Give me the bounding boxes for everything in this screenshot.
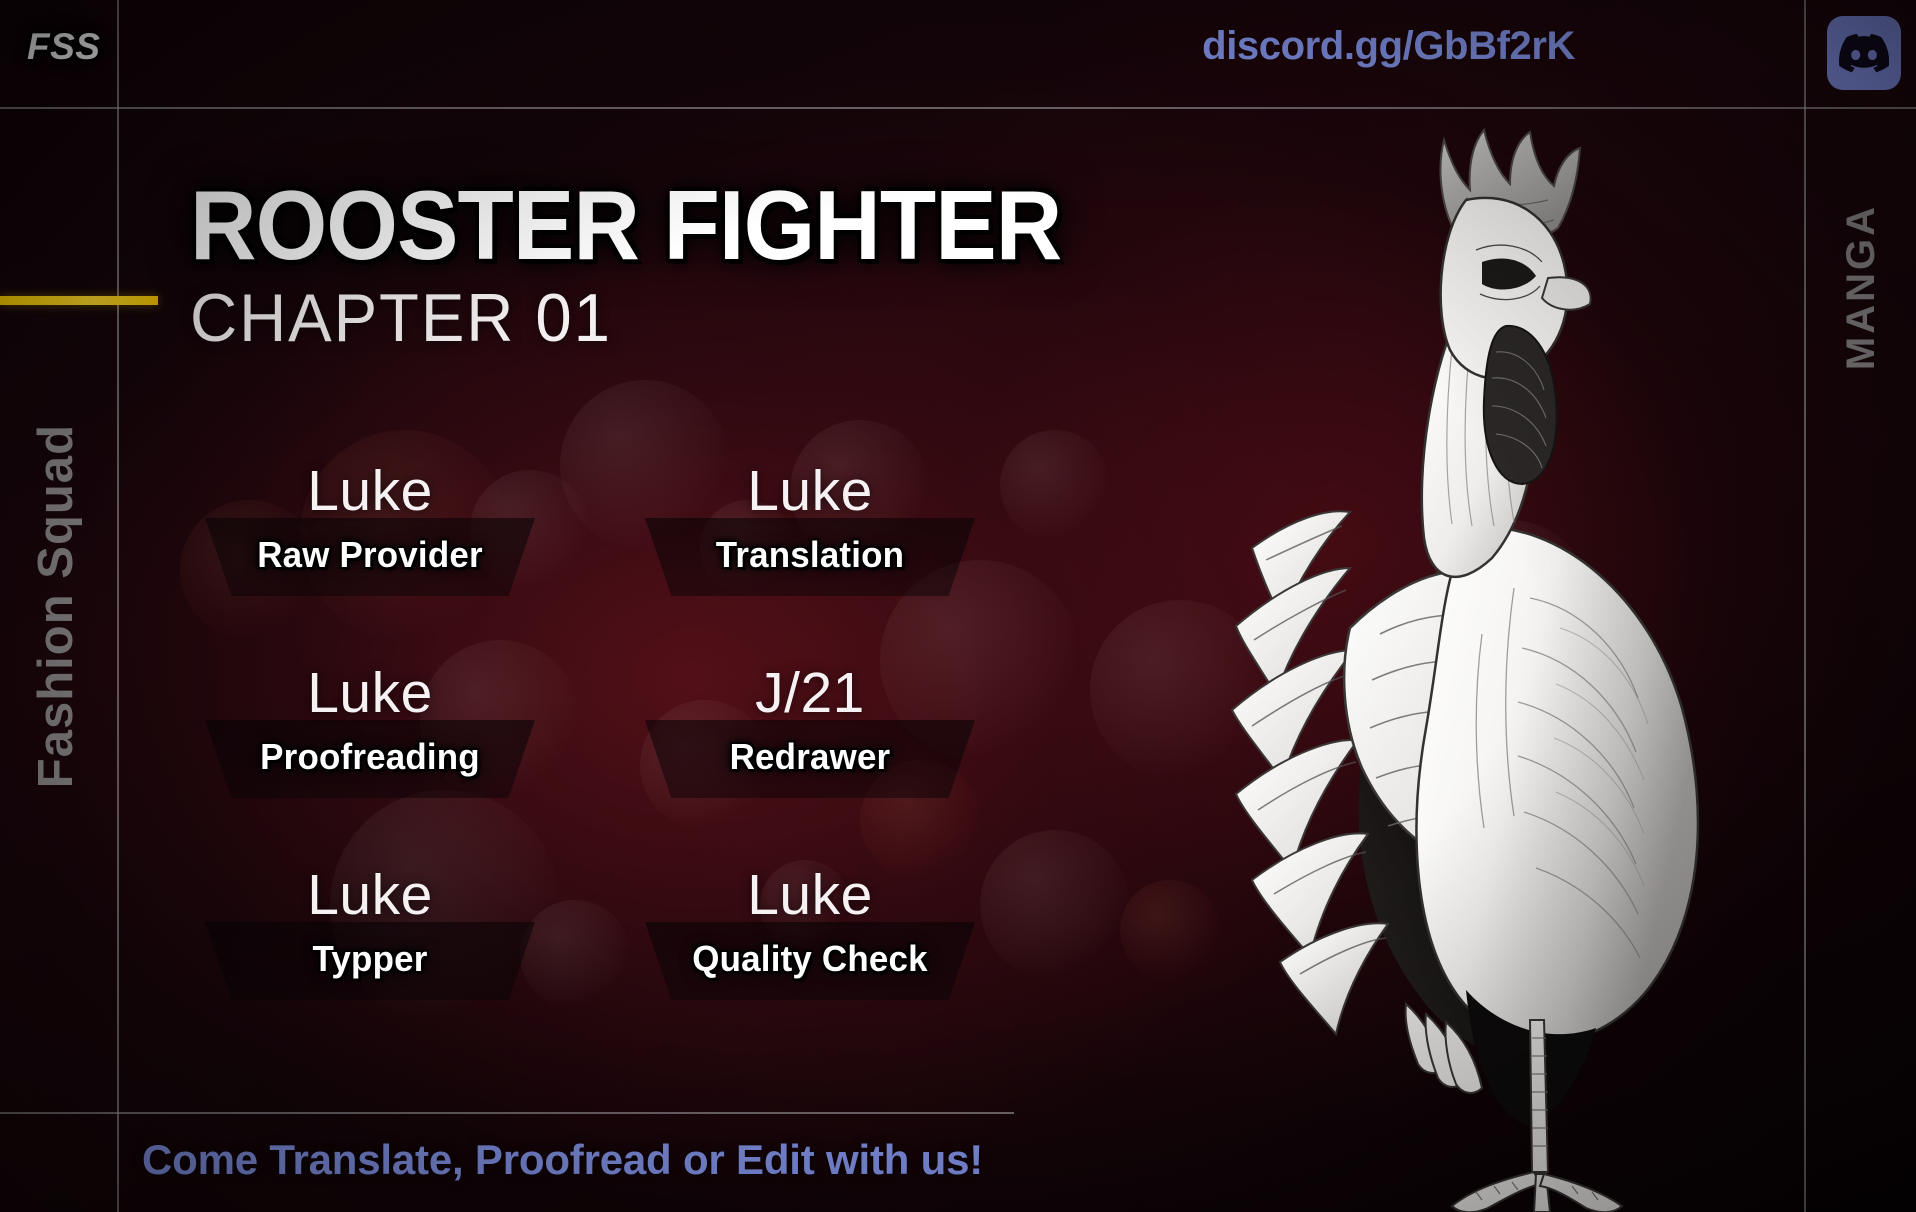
credits-page: FSS discord.gg/GbBf2rK Fashion Squad MAN… xyxy=(0,0,1916,1212)
fashion-squad-text: Fashion Squad xyxy=(28,424,84,788)
credit-role: Redrawer xyxy=(597,736,1024,778)
credit-role: Quality Check xyxy=(597,938,1024,980)
credit-name: Luke xyxy=(590,866,1030,926)
credits-grid: Luke Raw Provider Luke Translation Luke … xyxy=(150,462,1030,1022)
page-header: FSS discord.gg/GbBf2rK xyxy=(0,0,1916,107)
credit-name: Luke xyxy=(150,664,590,724)
grid-line-vertical-left xyxy=(117,0,119,1212)
credit-name: Luke xyxy=(590,462,1030,522)
recruitment-cta[interactable]: Come Translate, Proofread or Edit with u… xyxy=(142,1136,983,1184)
fashion-squad-label: Fashion Squad xyxy=(0,0,115,1212)
credit-entry: Luke Raw Provider xyxy=(150,462,590,618)
credit-role: Proofreading xyxy=(157,736,584,778)
manga-text: MANGA xyxy=(1839,204,1884,370)
rooster-illustration xyxy=(1230,128,1770,1212)
credit-entry: Luke Quality Check xyxy=(590,866,1030,1022)
credit-role: Raw Provider xyxy=(157,534,584,576)
credit-entry: Luke Translation xyxy=(590,462,1030,618)
credit-entry: Luke Proofreading xyxy=(150,664,590,820)
grid-line-horizontal-bottom xyxy=(0,1112,1014,1114)
title-block: ROOSTER FIGHTER CHAPTER 01 xyxy=(190,176,1290,352)
chapter-subtitle: CHAPTER 01 xyxy=(190,284,1246,352)
credit-role: Typper xyxy=(157,938,584,980)
credit-name: Luke xyxy=(150,866,590,926)
discord-icon[interactable] xyxy=(1827,16,1901,90)
credit-role: Translation xyxy=(597,534,1024,576)
series-title: ROOSTER FIGHTER xyxy=(190,176,1224,274)
credit-entry: Luke Typper xyxy=(150,866,590,1022)
manga-label: MANGA xyxy=(1806,107,1916,467)
grid-line-horizontal-top xyxy=(0,107,1916,109)
credit-name: J/21 xyxy=(590,664,1030,724)
accent-rule-yellow xyxy=(0,296,158,305)
credit-entry: J/21 Redrawer xyxy=(590,664,1030,820)
discord-invite-link[interactable]: discord.gg/GbBf2rK xyxy=(1202,24,1575,69)
credit-name: Luke xyxy=(150,462,590,522)
